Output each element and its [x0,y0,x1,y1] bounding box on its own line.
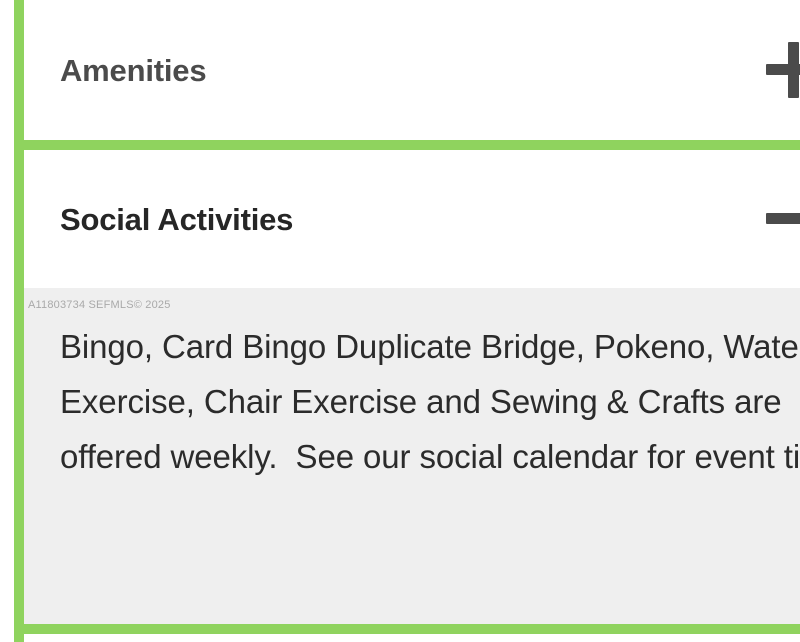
social-activities-description: Bingo, Card Bingo Duplicate Bridge, Poke… [60,319,800,484]
minus-icon[interactable] [766,191,800,247]
social-activities-content-panel: A11803734 SEFMLS© 2025 Bingo, Card Bingo… [24,288,800,624]
minus-icon-horizontal-bar [766,213,800,224]
accordion-title-amenities: Amenities [60,55,206,86]
accent-border-left [14,0,24,642]
section-divider-top [14,140,800,150]
accordion-title-social-activities: Social Activities [60,204,293,235]
accordion-header-social-activities[interactable]: Social Activities [24,150,800,288]
listing-accordion-panel: Amenities Social Activities A11803734 SE… [0,0,800,642]
accordion-header-amenities[interactable]: Amenities [24,0,800,140]
plus-icon-vertical-bar [788,42,799,98]
section-divider-bottom [14,624,800,634]
mls-watermark: A11803734 SEFMLS© 2025 [28,299,171,311]
plus-icon[interactable] [766,42,800,98]
